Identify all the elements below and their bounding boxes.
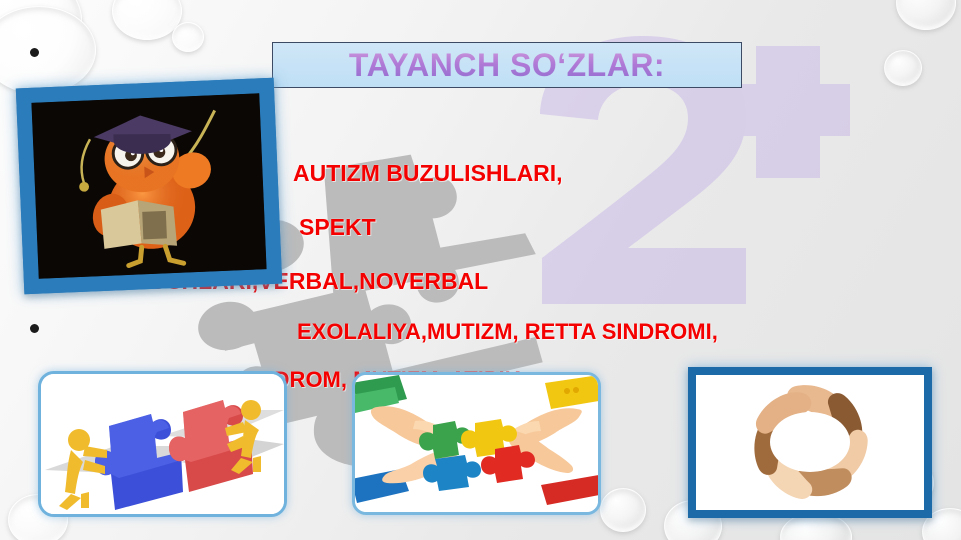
bullet-1 bbox=[30, 48, 39, 57]
bubble-decoration bbox=[0, 0, 82, 70]
page-title: TAYANCH SO‘ZLAR: bbox=[349, 47, 665, 84]
keyword-line-1: AUTIZM BUZULISHLARI, bbox=[293, 160, 563, 187]
puzzle-push-illustration bbox=[41, 374, 284, 514]
presentation-slide: TAYANCH SO‘ZLAR: AUTIZM BUZULISHLARI, SP… bbox=[0, 0, 961, 540]
keyword-line-2: SPEKT bbox=[299, 214, 376, 241]
owl-teacher-image bbox=[31, 93, 266, 278]
owl-teacher-photo bbox=[16, 78, 282, 295]
bullet-3 bbox=[30, 324, 39, 333]
bubble-decoration bbox=[172, 22, 204, 52]
bubble-decoration bbox=[896, 0, 956, 30]
bubble-decoration bbox=[112, 0, 182, 40]
hands-puzzle-illustration bbox=[355, 375, 598, 512]
hands-circle-illustration bbox=[696, 375, 924, 510]
bubble-decoration bbox=[884, 50, 922, 86]
bubble-decoration bbox=[0, 6, 96, 94]
owl-illustration bbox=[31, 93, 266, 278]
puzzle-push-photo bbox=[38, 371, 287, 517]
hands-circle-photo bbox=[688, 367, 932, 518]
hands-puzzle-photo bbox=[352, 372, 601, 515]
bubble-decoration bbox=[600, 488, 646, 532]
slide-title-box: TAYANCH SO‘ZLAR: bbox=[272, 42, 742, 88]
keyword-line-4: EXOLALIYA,MUTIZM, RETTA SINDROMI, bbox=[297, 319, 718, 345]
